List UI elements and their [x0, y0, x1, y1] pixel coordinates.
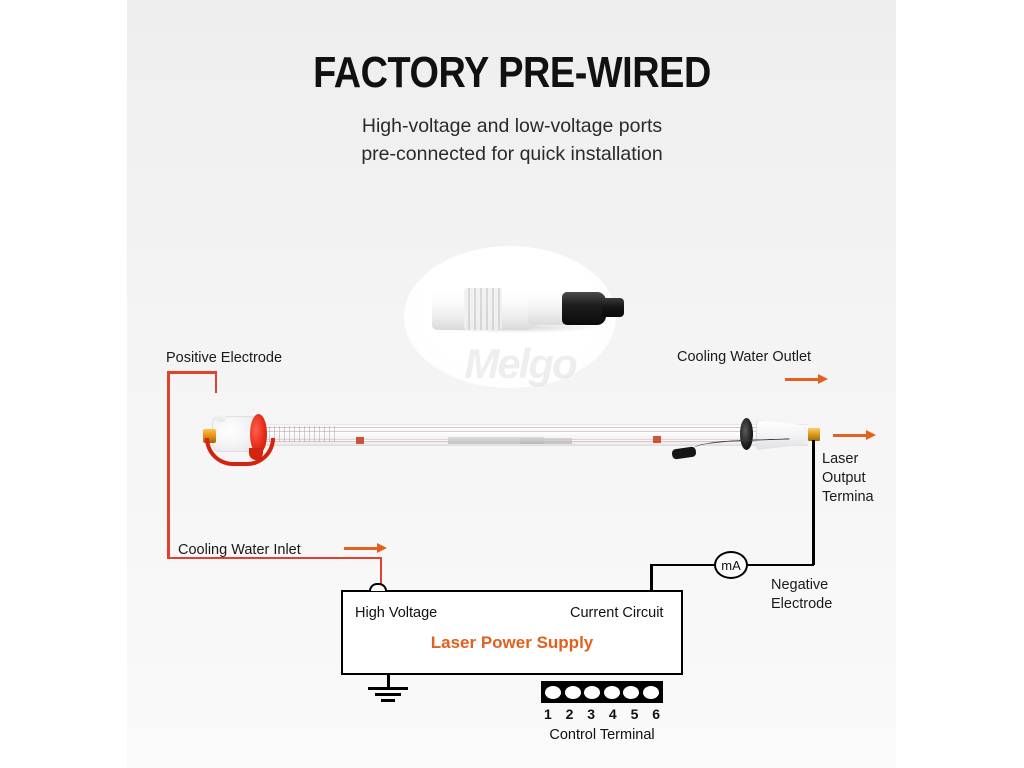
tube-spec-label-secondary	[520, 438, 572, 444]
control-terminal-pin[interactable]	[584, 686, 600, 699]
label-high-voltage: High Voltage	[355, 605, 437, 621]
black-negative-lead-boot	[671, 446, 696, 459]
label-laser-output-terminal-line-2: Output	[822, 469, 902, 488]
red-wire-to-power-supply	[380, 557, 383, 587]
control-terminal-pin[interactable]	[623, 686, 639, 699]
milliamp-meter-label: mA	[721, 558, 741, 573]
ground-symbol-bar-2	[375, 693, 401, 696]
label-negative-electrode-line-2: Electrode	[771, 595, 861, 614]
cooling-water-inlet-arrow	[344, 547, 378, 550]
ground-symbol-bar-3	[381, 699, 395, 702]
black-wire-to-current-circuit	[650, 564, 653, 591]
red-wire-tube-drop	[215, 371, 218, 393]
red-high-voltage-lead	[205, 438, 275, 466]
control-terminal-pin[interactable]	[565, 686, 581, 699]
label-laser-power-supply: Laser Power Supply	[341, 633, 683, 653]
black-wire-right-vertical	[812, 440, 815, 565]
label-negative-electrode: Negative Electrode	[771, 576, 861, 614]
label-laser-output-terminal: Laser Output Termina	[822, 450, 902, 507]
cooling-water-outlet-arrow	[785, 378, 819, 381]
black-wire-to-meter-left	[650, 564, 716, 567]
label-positive-electrode: Positive Electrode	[166, 349, 282, 368]
control-terminal-pin[interactable]	[545, 686, 561, 699]
label-control-terminal: Control Terminal	[481, 727, 723, 743]
control-terminal-pin-number: 3	[587, 706, 595, 722]
connector-grip-ridges	[464, 288, 502, 330]
subtitle-line-1: High-voltage and low-voltage ports	[0, 112, 1024, 140]
diagram-stage: FACTORY PRE-WIRED High-voltage and low-v…	[0, 0, 1024, 768]
red-wire-left-vertical	[167, 371, 170, 559]
control-terminal-pin-number: 6	[652, 706, 660, 722]
label-cooling-water-inlet: Cooling Water Inlet	[178, 541, 301, 560]
label-current-circuit: Current Circuit	[570, 605, 663, 621]
ground-symbol-stem	[387, 675, 390, 687]
tube-marker-dot-left	[356, 437, 364, 444]
control-terminal-baseline	[543, 700, 661, 703]
control-terminal-pin[interactable]	[604, 686, 620, 699]
milliamp-meter[interactable]: mA	[714, 551, 748, 579]
control-terminal-pin-number: 1	[544, 706, 552, 722]
control-terminal-pin-number: 5	[631, 706, 639, 722]
laser-output-beam-arrow	[833, 434, 867, 437]
page-subtitle: High-voltage and low-voltage ports pre-c…	[0, 112, 1024, 168]
red-wire-top-segment	[167, 371, 217, 374]
label-laser-output-terminal-line-1: Laser	[822, 450, 902, 469]
label-laser-output-terminal-line-3: Termina	[822, 488, 902, 507]
label-cooling-water-outlet: Cooling Water Outlet	[677, 348, 811, 367]
ground-symbol-bar-1	[368, 687, 408, 690]
control-terminal-pin[interactable]	[643, 686, 659, 699]
tube-left-fill-neck	[216, 412, 226, 422]
page-root: FACTORY PRE-WIRED High-voltage and low-v…	[0, 0, 1024, 768]
control-terminal-pin-number: 2	[566, 706, 574, 722]
tube-marker-dot-right	[653, 436, 661, 443]
connector-black-sleeve	[562, 292, 606, 325]
connector-black-tip	[602, 298, 624, 317]
subtitle-line-2: pre-connected for quick installation	[0, 140, 1024, 168]
control-terminal-pin-number: 4	[609, 706, 617, 722]
black-wire-to-meter-right	[746, 564, 814, 567]
page-title: FACTORY PRE-WIRED	[72, 48, 953, 98]
label-negative-electrode-line-1: Negative	[771, 576, 861, 595]
control-terminal-pin-numbers: 1 2 3 4 5 6	[541, 706, 663, 722]
high-voltage-input-notch	[369, 583, 387, 591]
